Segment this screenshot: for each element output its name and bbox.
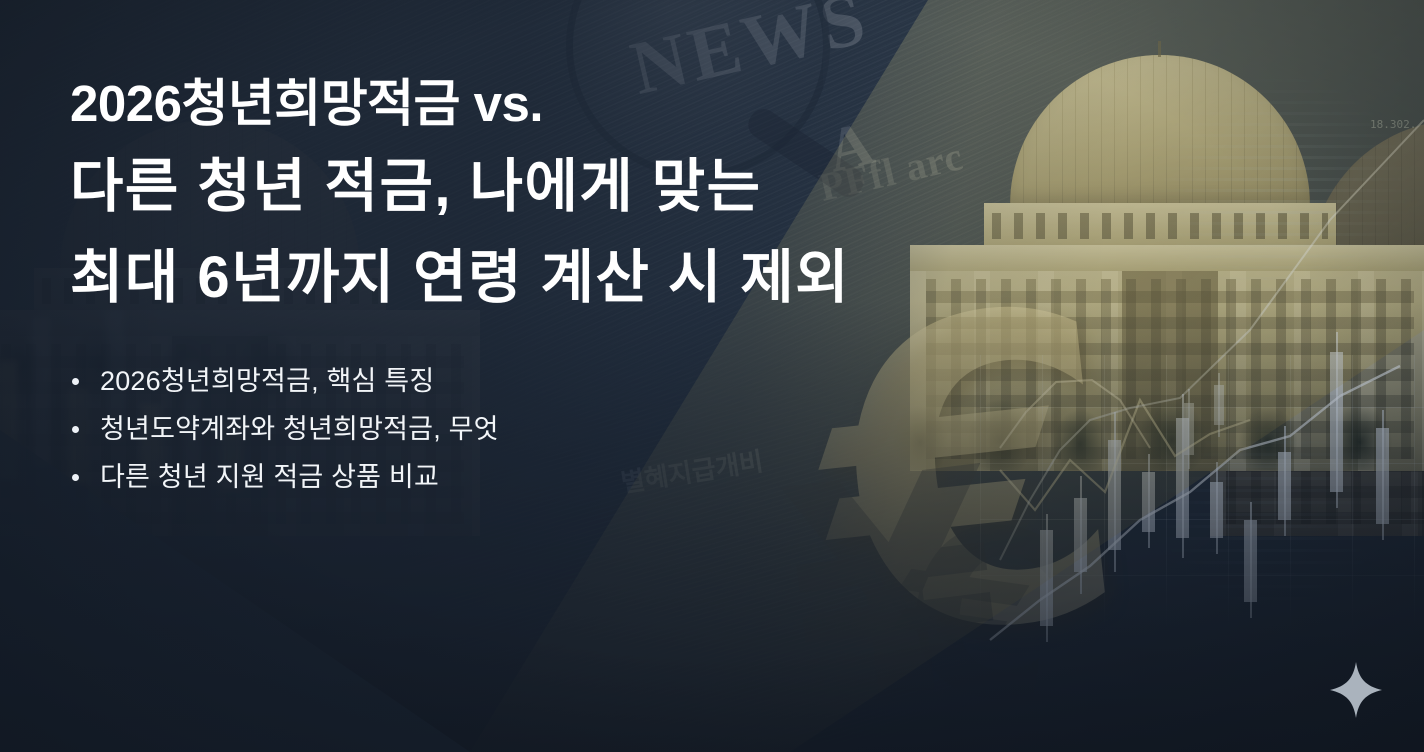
bullet-dot-icon [72, 378, 79, 385]
list-item: 2026청년희망적금, 핵심 특징 [70, 357, 1070, 405]
card-content: 2026청년희망적금 vs. 다른 청년 적금, 나에게 맞는 최대 6년까지 … [70, 0, 1070, 517]
sparkle-icon [1330, 662, 1382, 718]
title-line-1: 2026청년희망적금 vs. [70, 0, 1070, 129]
bullet-list: 2026청년희망적금, 핵심 특징 청년도약계좌와 청년희망적금, 무엇 다른 … [70, 357, 1070, 501]
bullet-dot-icon [72, 474, 79, 481]
list-item: 청년도약계좌와 청년희망적금, 무엇 [70, 405, 1070, 453]
bullet-dot-icon [72, 426, 79, 433]
title-line-2: 다른 청년 적금, 나에게 맞는 [70, 129, 1070, 216]
list-item: 다른 청년 지원 적금 상품 비교 [70, 453, 1070, 501]
page-title: 2026청년희망적금 vs. 다른 청년 적금, 나에게 맞는 최대 6년까지 … [70, 0, 1070, 307]
list-item-label: 다른 청년 지원 적금 상품 비교 [100, 462, 439, 492]
list-item-label: 2026청년희망적금, 핵심 특징 [100, 366, 434, 396]
list-item-label: 청년도약계좌와 청년희망적금, 무엇 [100, 414, 499, 444]
thumbnail-card: NEWS A PFfl arc 별혜지급개비 € ¥ € 18.302 [0, 0, 1424, 752]
title-line-3: 최대 6년까지 연령 계산 시 제외 [70, 216, 1070, 307]
